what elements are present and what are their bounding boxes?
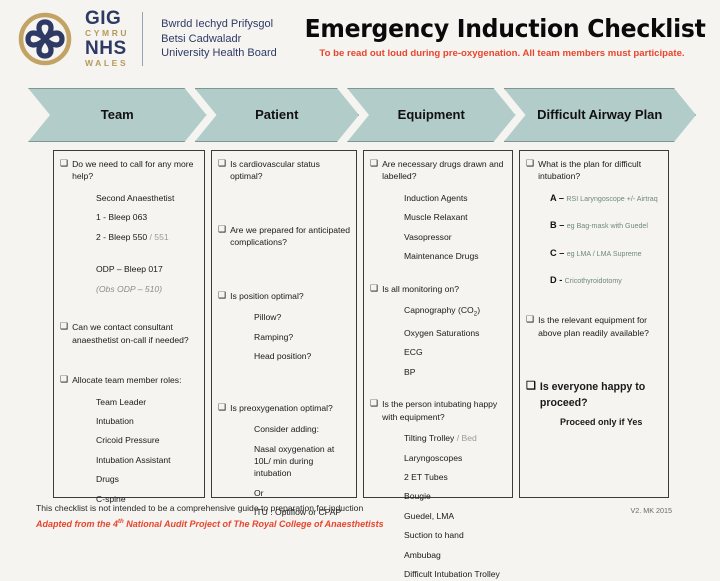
checkbox-icon[interactable]: ❑ bbox=[60, 321, 68, 332]
question-text: Are we prepared for anticipated complica… bbox=[230, 224, 350, 249]
question-text: Allocate team member roles: bbox=[72, 374, 198, 386]
list-item: Intubation bbox=[96, 415, 198, 427]
chevron-patient-label: Patient bbox=[255, 108, 298, 123]
checkbox-icon[interactable]: ❑ bbox=[370, 283, 378, 294]
plan-option-b: B – eg Bag-mask with Guedel bbox=[550, 219, 662, 232]
plan-a-description: RSI Laryngoscope +/- Airtraq bbox=[566, 195, 657, 203]
checkbox-icon[interactable]: ❑ bbox=[218, 290, 226, 301]
checklist-columns: ❑ Do we need to call for any more help? … bbox=[53, 150, 668, 498]
footer-credit-pre: Adapted from the 4 bbox=[36, 519, 118, 529]
list-item: Vasopressor bbox=[404, 231, 506, 243]
footer-disclaimer: This checklist is not intended to be a c… bbox=[36, 503, 696, 513]
gig-text: GIG bbox=[85, 9, 129, 28]
checkbox-icon[interactable]: ❑ bbox=[370, 398, 378, 409]
list-item: Team Leader bbox=[96, 396, 198, 408]
checklist-item[interactable]: ❑ Is cardiovascular status optimal? bbox=[218, 158, 350, 183]
plan-option-d: D - Cricothyroidotomy bbox=[550, 274, 662, 287]
list-item: Or bbox=[254, 487, 350, 499]
list-item: Muscle Relaxant bbox=[404, 211, 506, 223]
footer-credit-post: National Audit Project of The Royal Coll… bbox=[124, 519, 384, 529]
list-item-capnography: Capnography (CO2) bbox=[404, 304, 506, 320]
checkbox-icon[interactable]: ❑ bbox=[370, 158, 378, 169]
list-item: Ramping? bbox=[254, 331, 350, 343]
title-block: Emergency Induction Checklist To be read… bbox=[292, 14, 712, 59]
plan-a-letter: A – bbox=[550, 193, 564, 203]
plan-c-letter: C – bbox=[550, 248, 564, 258]
list-item: Cricoid Pressure bbox=[96, 434, 198, 446]
list-item: Maintenance Drugs bbox=[404, 250, 506, 262]
page-header: GIG CYMRU NHS WALES Bwrdd Iechyd Prifysg… bbox=[0, 0, 720, 86]
list-item: 2 ET Tubes bbox=[404, 471, 506, 483]
chevron-equipment-label: Equipment bbox=[398, 108, 465, 123]
health-board-name: Bwrdd Iechyd Prifysgol Betsi Cadwaladr U… bbox=[161, 17, 277, 61]
plan-option-a: A – RSI Laryngoscope +/- Airtraq bbox=[550, 192, 662, 205]
checklist-item[interactable]: ❑ Are necessary drugs drawn and labelled… bbox=[370, 158, 506, 183]
list-item: Pillow? bbox=[254, 311, 350, 323]
list-item: 2 - Bleep 550 / 551 bbox=[96, 231, 198, 243]
list-item: Intubation Assistant bbox=[96, 454, 198, 466]
list-item: ODP – Bleep 017 bbox=[96, 263, 198, 275]
column-difficult-airway-plan: ❑ What is the plan for difficult intubat… bbox=[519, 150, 669, 498]
gig-nhs-wordmark: GIG CYMRU NHS WALES bbox=[85, 9, 129, 70]
checklist-item-everyone-happy[interactable]: ❑ Is everyone happy to proceed? bbox=[526, 380, 662, 411]
column-patient: ❑ Is cardiovascular status optimal? ❑ Ar… bbox=[211, 150, 357, 498]
list-item: Induction Agents bbox=[404, 192, 506, 204]
cymru-text: CYMRU bbox=[85, 29, 129, 38]
capnography-label: Capnography (CO bbox=[404, 305, 474, 315]
checklist-item[interactable]: ❑ Are we prepared for anticipated compli… bbox=[218, 224, 350, 249]
page-footer: This checklist is not intended to be a c… bbox=[36, 503, 696, 529]
health-board-line-1: Bwrdd Iechyd Prifysgol bbox=[161, 17, 277, 32]
plan-b-description: eg Bag-mask with Guedel bbox=[567, 222, 648, 230]
proceed-only-if-yes-text: Proceed only if Yes bbox=[560, 416, 662, 429]
nhs-text: NHS bbox=[85, 39, 129, 58]
question-text: Is cardiovascular status optimal? bbox=[230, 158, 350, 183]
checkbox-icon[interactable]: ❑ bbox=[60, 374, 68, 385]
nhs-wales-brand: GIG CYMRU NHS WALES Bwrdd Iechyd Prifysg… bbox=[14, 8, 277, 70]
checkbox-icon[interactable]: ❑ bbox=[526, 380, 536, 394]
column-team: ❑ Do we need to call for any more help? … bbox=[53, 150, 205, 498]
question-text: Is everyone happy to proceed? bbox=[540, 380, 662, 411]
chevron-difficult-airway-plan-label: Difficult Airway Plan bbox=[537, 108, 662, 123]
checklist-item[interactable]: ❑ Is position optimal? bbox=[218, 290, 350, 302]
bleep-2-main: 2 - Bleep 550 bbox=[96, 232, 147, 242]
list-item: Consider adding: bbox=[254, 423, 350, 435]
question-text: Is all monitoring on? bbox=[382, 283, 506, 295]
checklist-page: GIG CYMRU NHS WALES Bwrdd Iechyd Prifysg… bbox=[0, 0, 720, 540]
wales-text: WALES bbox=[85, 59, 129, 68]
question-text: Is the person intubating happy with equi… bbox=[382, 398, 506, 423]
plan-b-letter: B – bbox=[550, 220, 564, 230]
chevron-team-label: Team bbox=[101, 108, 134, 123]
list-item: Second Anaesthetist bbox=[96, 192, 198, 204]
question-text: What is the plan for difficult intubatio… bbox=[538, 158, 662, 183]
chevron-patient[interactable]: Patient bbox=[195, 88, 360, 142]
list-item: Bougie bbox=[404, 490, 506, 502]
plan-option-c: C – eg LMA / LMA Supreme bbox=[550, 247, 662, 260]
list-item: 1 - Bleep 063 bbox=[96, 211, 198, 223]
chevron-difficult-airway-plan[interactable]: Difficult Airway Plan bbox=[504, 88, 697, 142]
plan-c-description: eg LMA / LMA Supreme bbox=[567, 250, 642, 258]
question-text: Is preoxygenation optimal? bbox=[230, 402, 350, 414]
section-chevron-banner: Team Patient Equipment Difficult Airway … bbox=[28, 88, 696, 142]
checkbox-icon[interactable]: ❑ bbox=[526, 314, 534, 325]
checklist-item[interactable]: ❑ Can we contact consultant anaesthetist… bbox=[60, 321, 198, 346]
question-text: Is position optimal? bbox=[230, 290, 350, 302]
list-item: Drugs bbox=[96, 473, 198, 485]
list-item: Laryngoscopes bbox=[404, 452, 506, 464]
checklist-item[interactable]: ❑ Is preoxygenation optimal? bbox=[218, 402, 350, 414]
checkbox-icon[interactable]: ❑ bbox=[526, 158, 534, 169]
list-item: Nasal oxygenation at 10L/ min during int… bbox=[254, 443, 350, 480]
celtic-knot-logo-icon bbox=[14, 8, 76, 70]
chevron-team[interactable]: Team bbox=[28, 88, 207, 142]
list-item-trolley: Tilting Trolley / Bed bbox=[404, 432, 506, 444]
list-item: BP bbox=[404, 366, 506, 378]
brand-divider bbox=[142, 12, 143, 66]
checkbox-icon[interactable]: ❑ bbox=[218, 158, 226, 169]
health-board-line-3: University Health Board bbox=[161, 46, 277, 61]
bleep-2-alt: / 551 bbox=[150, 232, 169, 242]
version-label: V2. MK 2015 bbox=[630, 506, 672, 515]
checkbox-icon[interactable]: ❑ bbox=[218, 402, 226, 413]
list-item: Head position? bbox=[254, 350, 350, 362]
question-text: Do we need to call for any more help? bbox=[72, 158, 198, 183]
question-text: Can we contact consultant anaesthetist o… bbox=[72, 321, 198, 346]
page-title: Emergency Induction Checklist bbox=[305, 14, 700, 43]
capnography-close: ) bbox=[477, 305, 480, 315]
footer-credit: Adapted from the 4th National Audit Proj… bbox=[36, 518, 696, 529]
question-text: Is the relevant equipment for above plan… bbox=[538, 314, 662, 339]
checklist-item[interactable]: ❑ Do we need to call for any more help? bbox=[60, 158, 198, 183]
page-subtitle: To be read out loud during pre-oxygenati… bbox=[292, 48, 712, 59]
list-item: Difficult Intubation Trolley bbox=[404, 568, 506, 580]
chevron-equipment[interactable]: Equipment bbox=[347, 88, 516, 142]
checklist-item[interactable]: ❑ Allocate team member roles: bbox=[60, 374, 198, 386]
column-equipment: ❑ Are necessary drugs drawn and labelled… bbox=[363, 150, 513, 498]
list-item: ECG bbox=[404, 346, 506, 358]
question-text: Are necessary drugs drawn and labelled? bbox=[382, 158, 506, 183]
checklist-item[interactable]: ❑ Is all monitoring on? bbox=[370, 283, 506, 295]
list-item-obs-odp: (Obs ODP – 510) bbox=[96, 283, 198, 295]
checkbox-icon[interactable]: ❑ bbox=[218, 224, 226, 235]
checklist-item[interactable]: ❑ Is the relevant equipment for above pl… bbox=[526, 314, 662, 339]
plan-d-letter: D - bbox=[550, 275, 562, 285]
checkbox-icon[interactable]: ❑ bbox=[60, 158, 68, 169]
trolley-alt: / Bed bbox=[457, 433, 477, 443]
list-item: Ambubag bbox=[404, 549, 506, 561]
checklist-item[interactable]: ❑ Is the person intubating happy with eq… bbox=[370, 398, 506, 423]
trolley-main: Tilting Trolley bbox=[404, 433, 454, 443]
list-item: Oxygen Saturations bbox=[404, 327, 506, 339]
health-board-line-2: Betsi Cadwaladr bbox=[161, 32, 277, 47]
plan-d-description: Cricothyroidotomy bbox=[565, 277, 622, 285]
checklist-item[interactable]: ❑ What is the plan for difficult intubat… bbox=[526, 158, 662, 183]
